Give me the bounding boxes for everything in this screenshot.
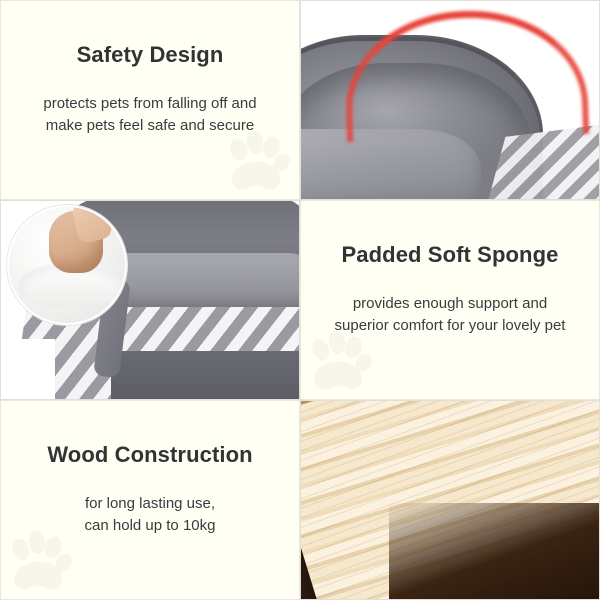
padded-soft-sponge-body: provides enough support and superior com… xyxy=(323,293,578,337)
feature-photo-wood-construction xyxy=(300,400,600,600)
feature-cell-wood-construction: Wood Construction for long lasting use, … xyxy=(0,400,300,600)
photo-backdrop xyxy=(301,401,599,599)
padded-soft-sponge-body-line-1: provides enough support and xyxy=(335,293,566,315)
safety-design-body-line-1: protects pets from falling off and xyxy=(43,93,256,115)
feature-photo-safety-design xyxy=(300,0,600,200)
feature-cell-padded-soft-sponge: Padded Soft Sponge provides enough suppo… xyxy=(300,200,600,400)
photo-backdrop xyxy=(1,201,299,399)
hand-pressing-foam xyxy=(49,211,103,273)
safety-design-title: Safety Design xyxy=(77,43,224,67)
padded-soft-sponge-title: Padded Soft Sponge xyxy=(342,243,559,267)
paw-print-icon xyxy=(3,523,77,597)
wood-construction-body-line-1: for long lasting use, xyxy=(85,493,216,515)
corner-shadow xyxy=(389,503,599,599)
wood-construction-body-line-2: can hold up to 10kg xyxy=(85,515,216,537)
padded-soft-sponge-body-line-2: superior comfort for your lovely pet xyxy=(335,315,566,337)
feature-grid: Safety Design protects pets from falling… xyxy=(0,0,600,600)
safety-design-body-line-2: make pets feel safe and secure xyxy=(43,115,256,137)
photo-white-corner xyxy=(1,339,55,399)
feature-cell-safety-design: Safety Design protects pets from falling… xyxy=(0,0,300,200)
feature-photo-padded-soft-sponge xyxy=(0,200,300,400)
product-feature-infographic: Safety Design protects pets from falling… xyxy=(0,0,600,600)
wood-construction-title: Wood Construction xyxy=(47,443,252,467)
wood-construction-body: for long lasting use, can hold up to 10k… xyxy=(73,493,228,537)
safety-design-body: protects pets from falling off and make … xyxy=(31,93,268,137)
foam-closeup-inset xyxy=(7,205,127,325)
wrist xyxy=(71,205,114,245)
